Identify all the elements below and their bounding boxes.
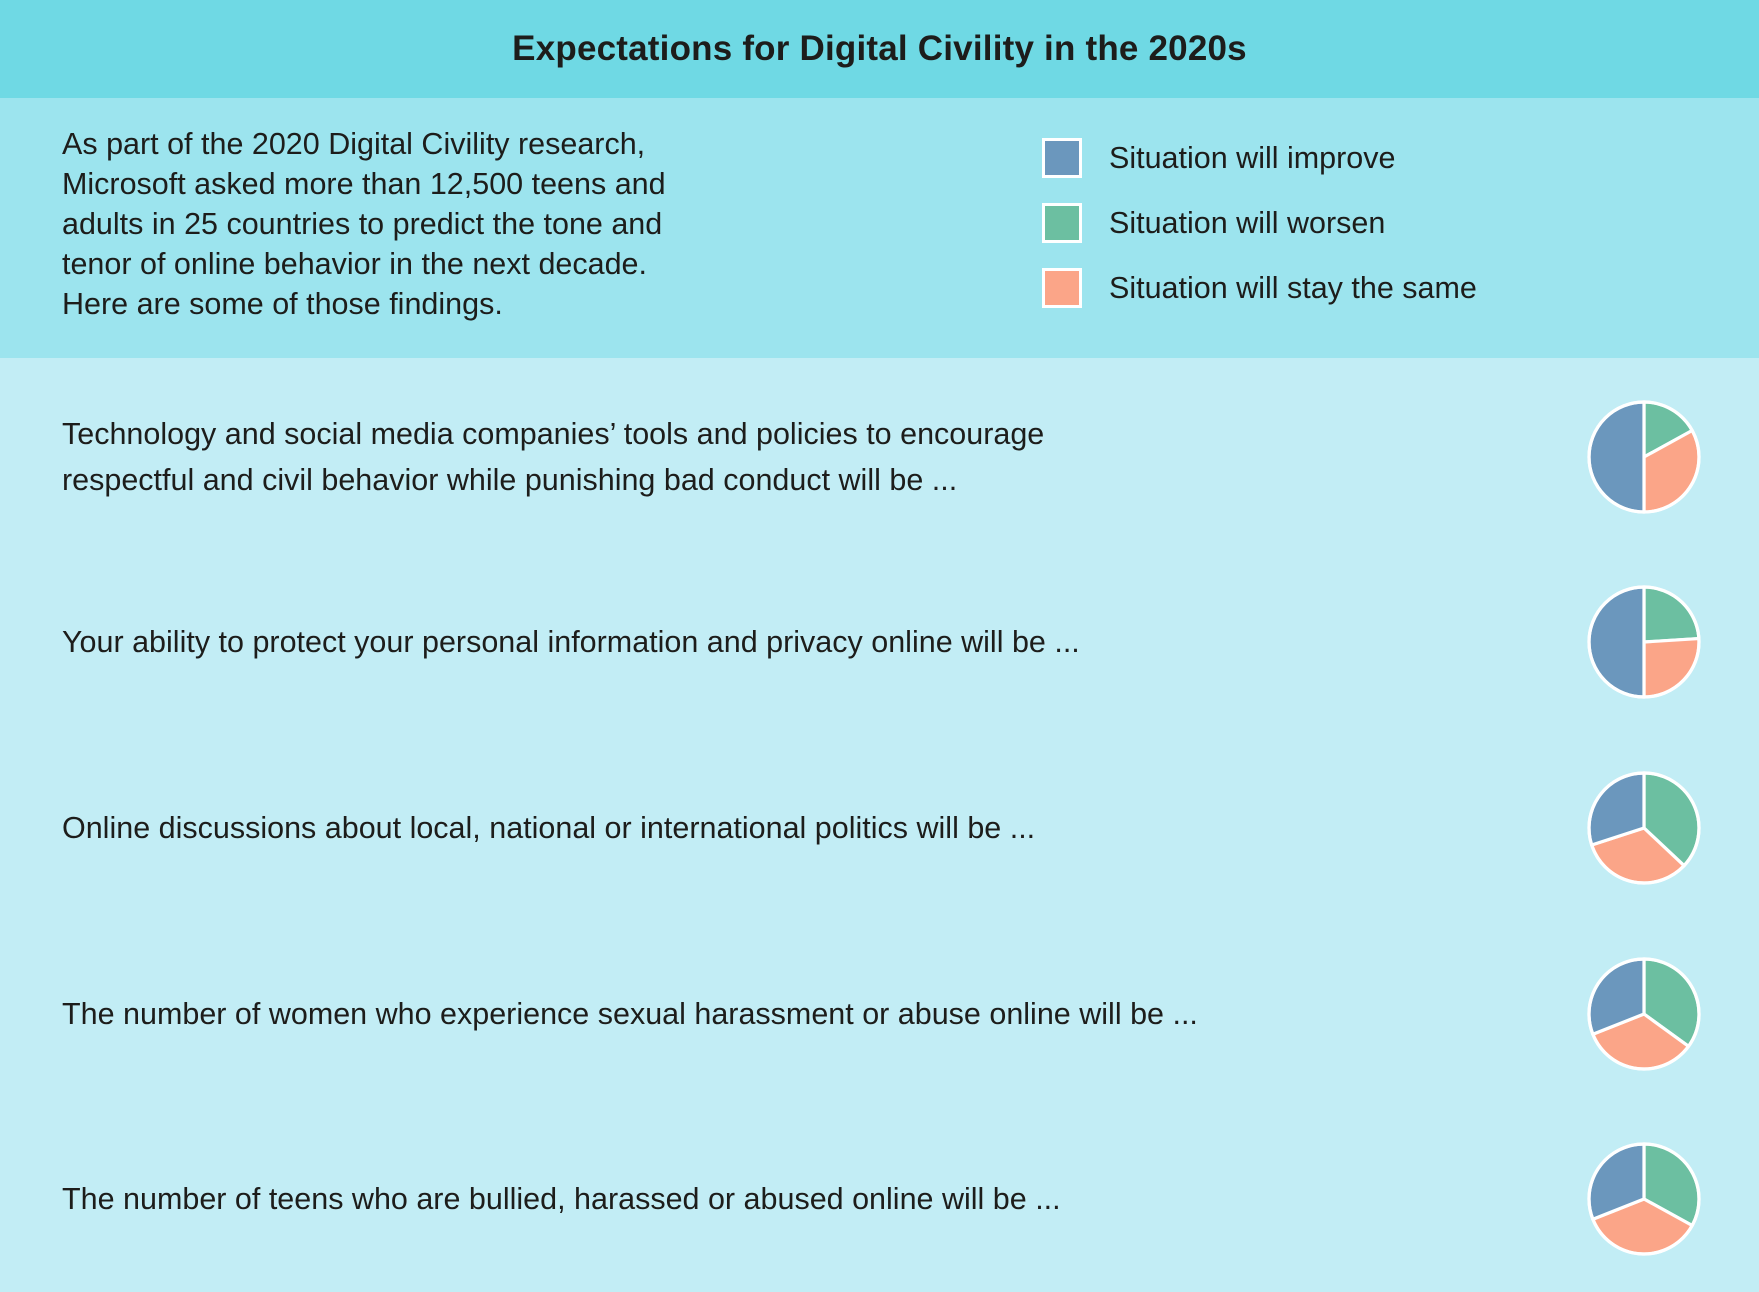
legend-swatch-stay-the-same	[1042, 268, 1082, 308]
statement-row: The number of women who experience sexua…	[0, 921, 1759, 1107]
pie-chart-svg: Situation will worsen: 35%Situation will…	[1583, 953, 1705, 1075]
legend-swatch-worsen	[1042, 203, 1082, 243]
statement-text: Technology and social media companies’ t…	[62, 411, 1529, 503]
pie-chart-1: Situation will worsen: 24%Situation will…	[1529, 581, 1759, 703]
title-bar: Expectations for Digital Civility in the…	[0, 0, 1759, 98]
infographic-root: Expectations for Digital Civility in the…	[0, 0, 1759, 1292]
pie-chart-svg: Situation will worsen: 37%Situation will…	[1583, 767, 1705, 889]
pie-chart-2: Situation will worsen: 37%Situation will…	[1529, 767, 1759, 889]
pie-chart-4: Situation will worsen: 33%Situation will…	[1529, 1138, 1759, 1260]
pie-slice-improve: Situation will improve: 50%	[1589, 402, 1644, 512]
pie-slice-improve: Situation will improve: 50%	[1589, 587, 1644, 697]
statement-rows: Technology and social media companies’ t…	[0, 358, 1759, 1292]
legend-item-worsen: Situation will worsen	[1042, 203, 1759, 243]
legend-item-improve: Situation will improve	[1042, 138, 1759, 178]
statement-text: Online discussions about local, national…	[62, 805, 1529, 851]
legend: Situation will improve Situation will wo…	[1010, 116, 1759, 308]
pie-chart-svg: Situation will worsen: 24%Situation will…	[1583, 581, 1705, 703]
legend-item-stay-the-same: Situation will stay the same	[1042, 268, 1759, 308]
statement-row: The number of teens who are bullied, har…	[0, 1106, 1759, 1292]
legend-label-worsen: Situation will worsen	[1109, 206, 1385, 240]
intro-paragraph: As part of the 2020 Digital Civility res…	[0, 116, 1010, 324]
statement-row: Online discussions about local, national…	[0, 735, 1759, 921]
statement-text: The number of teens who are bullied, har…	[62, 1176, 1529, 1222]
pie-chart-svg: Situation will worsen: 17%Situation will…	[1583, 396, 1705, 518]
legend-label-stay-the-same: Situation will stay the same	[1109, 271, 1477, 305]
page-title: Expectations for Digital Civility in the…	[512, 29, 1247, 69]
statement-text: The number of women who experience sexua…	[62, 991, 1529, 1037]
pie-chart-0: Situation will worsen: 17%Situation will…	[1529, 396, 1759, 518]
pie-chart-svg: Situation will worsen: 33%Situation will…	[1583, 1138, 1705, 1260]
pie-chart-3: Situation will worsen: 35%Situation will…	[1529, 953, 1759, 1075]
statement-row: Your ability to protect your personal in…	[0, 550, 1759, 736]
legend-label-improve: Situation will improve	[1109, 141, 1395, 175]
statement-row: Technology and social media companies’ t…	[0, 364, 1759, 550]
statement-text: Your ability to protect your personal in…	[62, 619, 1529, 665]
legend-swatch-improve	[1042, 138, 1082, 178]
intro-band: As part of the 2020 Digital Civility res…	[0, 98, 1759, 358]
